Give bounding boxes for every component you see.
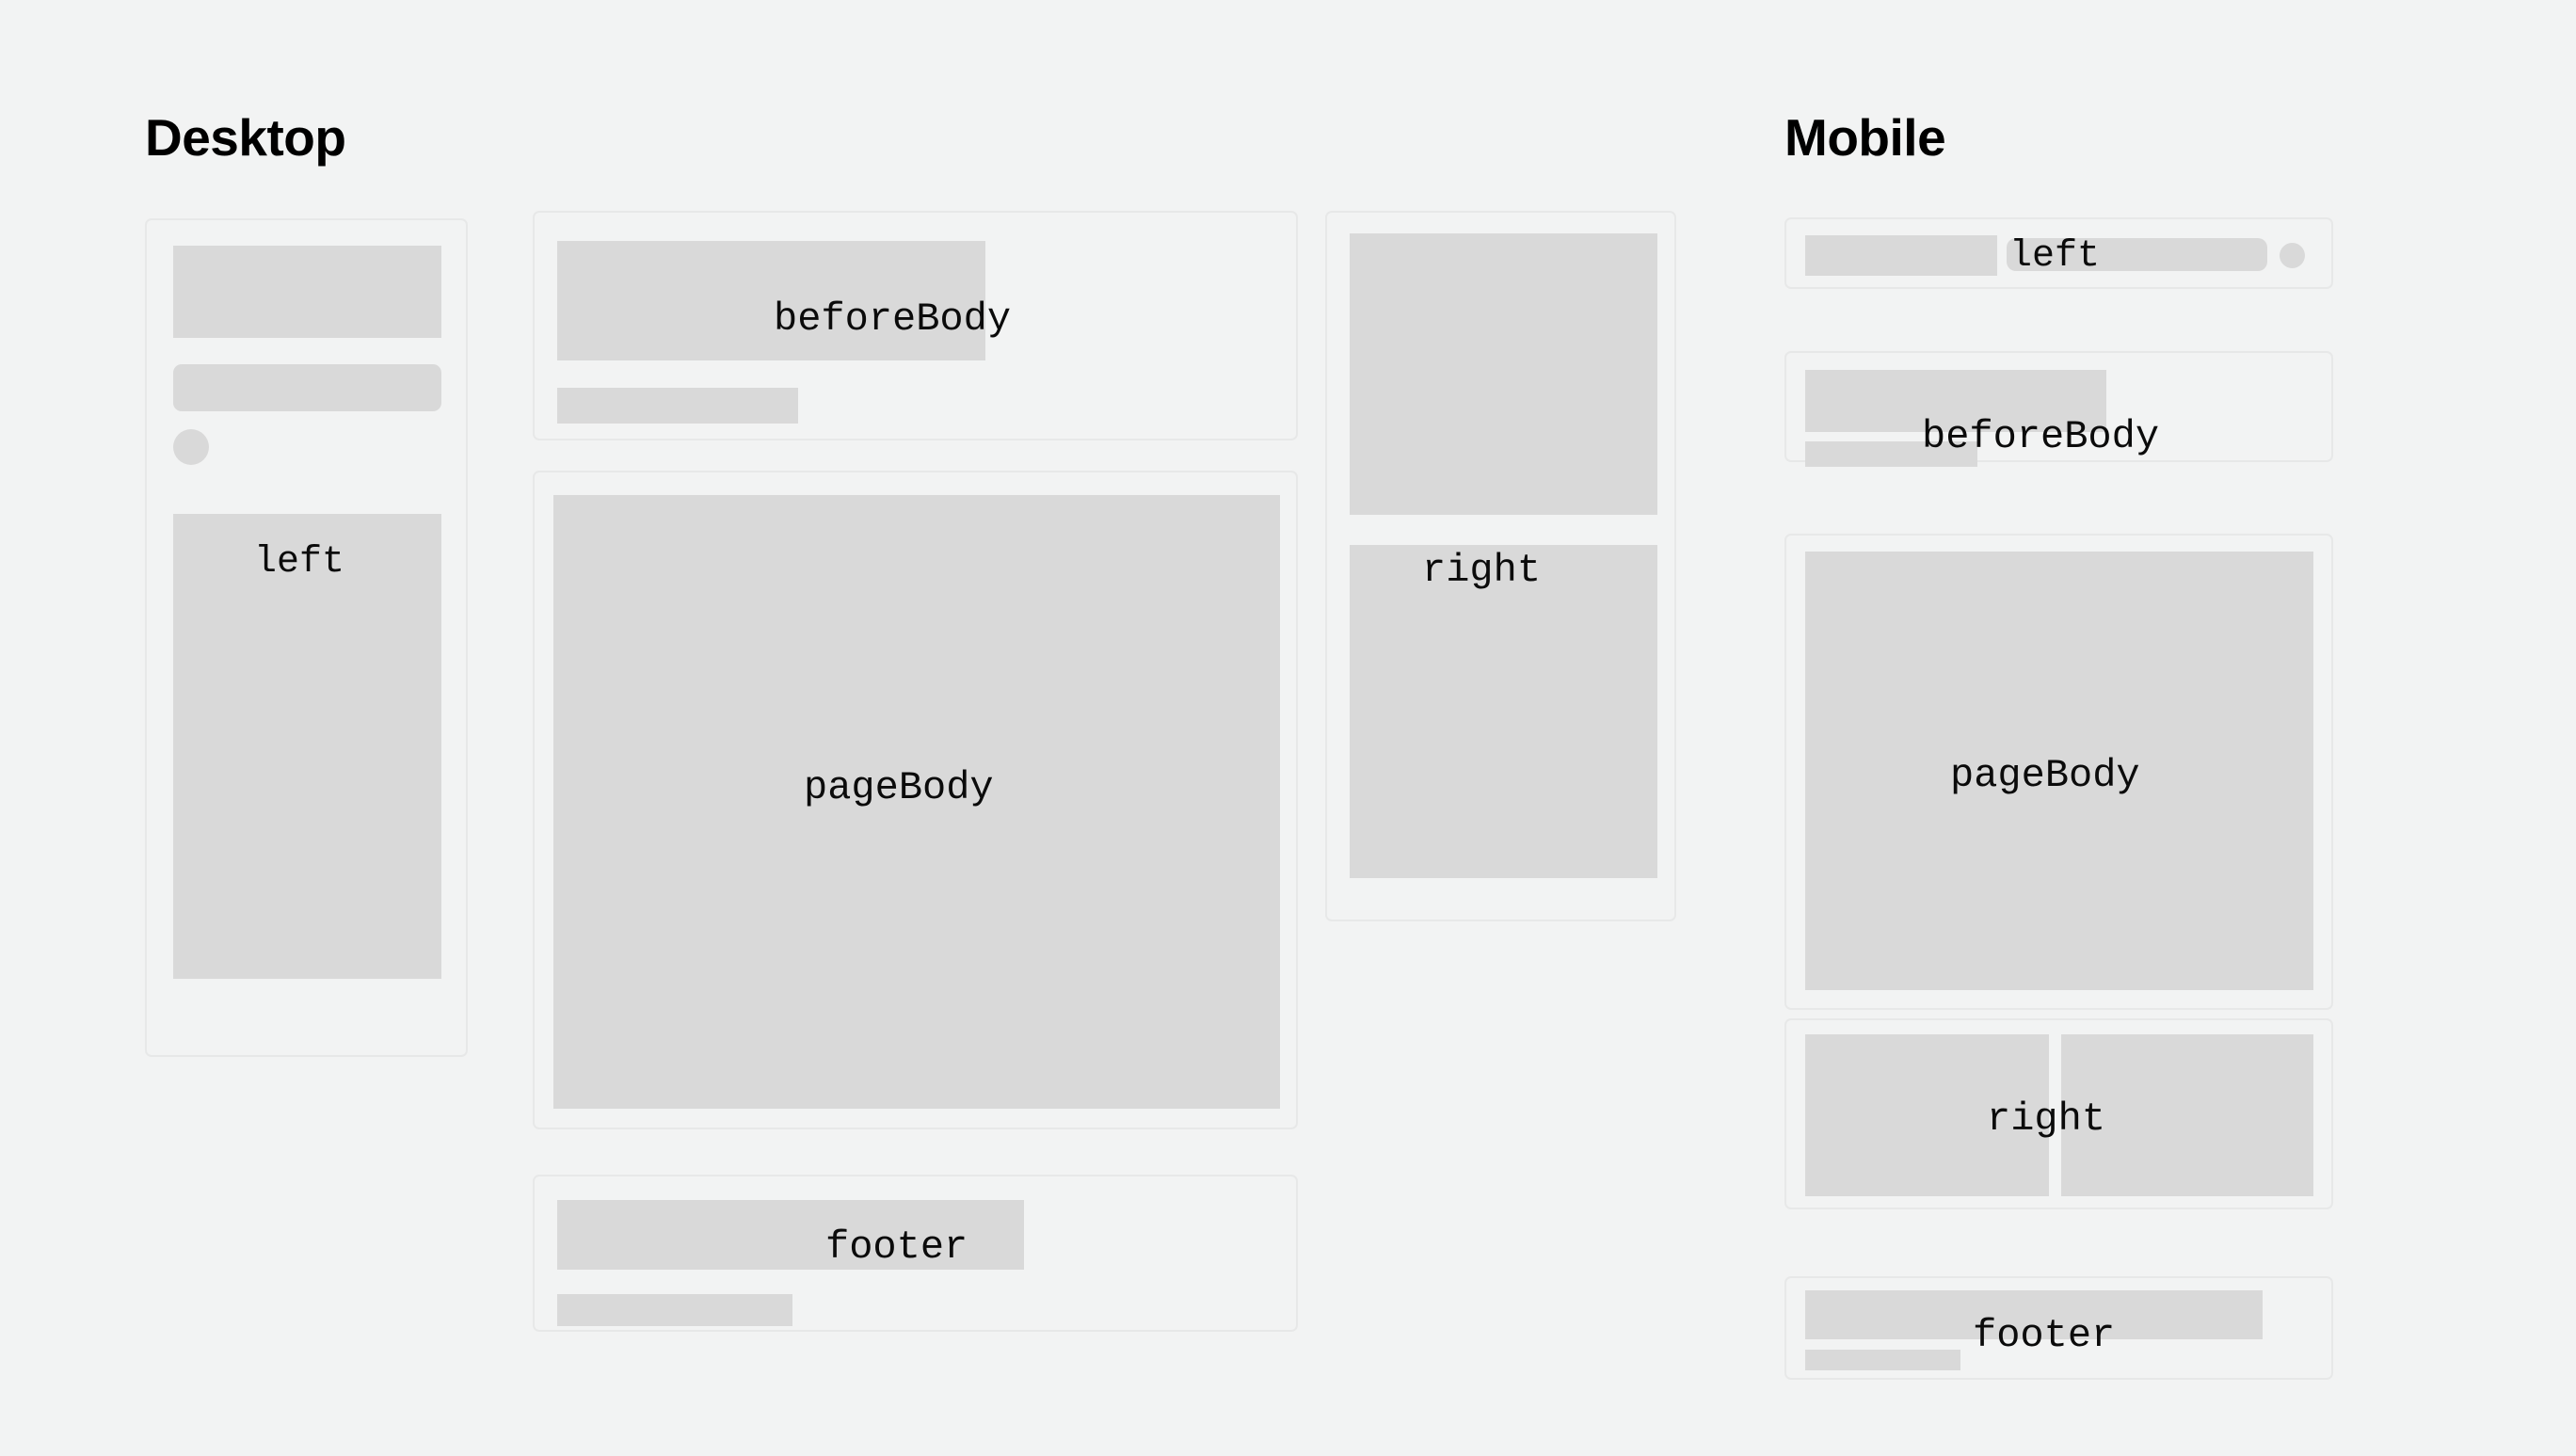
mobile-footer-card[interactable] [1784,1276,2333,1380]
skeleton-content-block [553,495,1280,1109]
skeleton-footer-caption-block [1805,1350,1960,1370]
mobile-left-card[interactable] [1784,217,2333,289]
skeleton-widget-top-block [1350,233,1657,515]
skeleton-widget-right-block [2061,1034,2313,1196]
skeleton-widget-left-block [1805,1034,2049,1196]
mobile-right-card[interactable] [1784,1018,2333,1209]
skeleton-subheader-block [173,364,441,411]
skeleton-banner-block [1805,370,2106,432]
skeleton-footer-caption-block [557,1294,792,1326]
skeleton-nav-block [173,514,441,979]
skeleton-header-block [173,246,441,338]
mobile-beforebody-card[interactable] [1784,351,2333,462]
skeleton-caption-block [557,388,798,424]
skeleton-content-block [1805,552,2313,990]
mobile-section-title: Mobile [1784,112,1945,164]
avatar-circle-icon [173,429,209,465]
desktop-right-card[interactable] [1325,211,1676,921]
skeleton-footer-block [557,1200,1024,1270]
desktop-section-title: Desktop [145,112,346,164]
desktop-footer-card[interactable] [533,1175,1298,1332]
desktop-beforebody-card[interactable] [533,211,1298,440]
skeleton-nav-pill-block [2007,238,2267,271]
desktop-pagebody-card[interactable] [533,471,1298,1129]
skeleton-caption-block [1805,441,1977,467]
skeleton-footer-block [1805,1290,2263,1339]
desktop-left-card[interactable] [145,218,468,1057]
avatar-circle-icon [2280,243,2305,268]
skeleton-banner-block [557,241,985,360]
skeleton-widget-bottom-block [1350,545,1657,878]
mobile-pagebody-card[interactable] [1784,534,2333,1010]
skeleton-logo-block [1805,235,1997,276]
